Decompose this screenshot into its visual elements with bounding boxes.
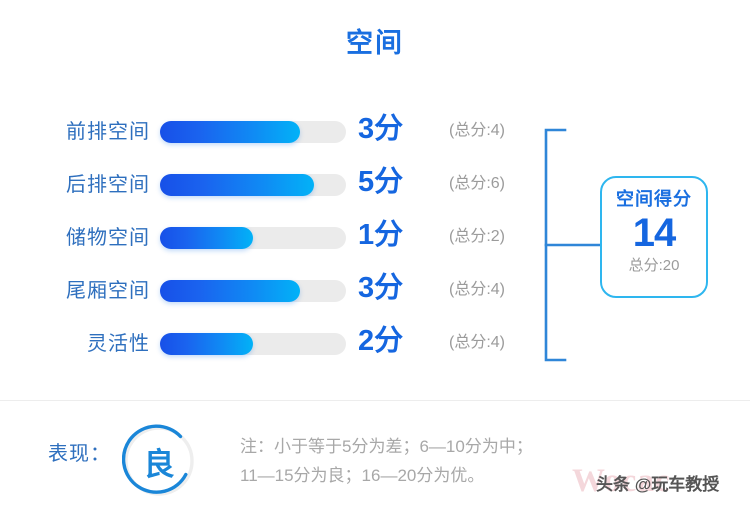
progress-fill [160, 174, 314, 196]
row-score: 2分 [358, 322, 403, 360]
total-score-title: 空间得分 [602, 187, 706, 211]
progress-track [160, 174, 346, 196]
row-label: 前排空间 [30, 118, 150, 146]
progress-track [160, 121, 346, 143]
table-row: 前排空间 3分 (总分:4) [0, 114, 750, 167]
row-score: 3分 [358, 269, 403, 307]
page-title: 空间 [0, 26, 750, 60]
row-score: 5分 [358, 163, 403, 201]
grade-badge-text: 良 [122, 424, 196, 498]
progress-track [160, 280, 346, 302]
section-divider [0, 400, 750, 401]
row-label: 后排空间 [30, 171, 150, 199]
grade-badge: 良 [122, 424, 196, 498]
progress-track [160, 333, 346, 355]
row-total: (总分:4) [449, 119, 505, 143]
space-score-card: 空间 前排空间 3分 (总分:4) 后排空间 5分 (总分:6) 储物空间 1分… [0, 0, 750, 513]
progress-fill [160, 280, 300, 302]
row-total: (总分:4) [449, 331, 505, 355]
row-total: (总分:2) [449, 225, 505, 249]
row-score: 3分 [358, 110, 403, 148]
progress-fill [160, 121, 300, 143]
row-label: 储物空间 [30, 224, 150, 252]
progress-fill [160, 333, 253, 355]
source-watermark: 头条 @玩车教授 [596, 474, 719, 496]
table-row: 灵活性 2分 (总分:4) [0, 326, 750, 379]
row-label: 尾厢空间 [30, 277, 150, 305]
progress-track [160, 227, 346, 249]
progress-fill [160, 227, 253, 249]
total-score-max: 总分:20 [602, 256, 706, 276]
row-label: 灵活性 [30, 330, 150, 358]
performance-label: 表现： [48, 440, 111, 468]
total-score-box: 空间得分 14 总分:20 [600, 176, 708, 298]
row-total: (总分:6) [449, 172, 505, 196]
bracket-connector-icon [543, 128, 605, 362]
note-line-1: 注：小于等于5分为差；6—10分为中； [240, 432, 640, 461]
total-score-value: 14 [602, 211, 706, 256]
row-total: (总分:4) [449, 278, 505, 302]
row-score: 1分 [358, 216, 403, 254]
